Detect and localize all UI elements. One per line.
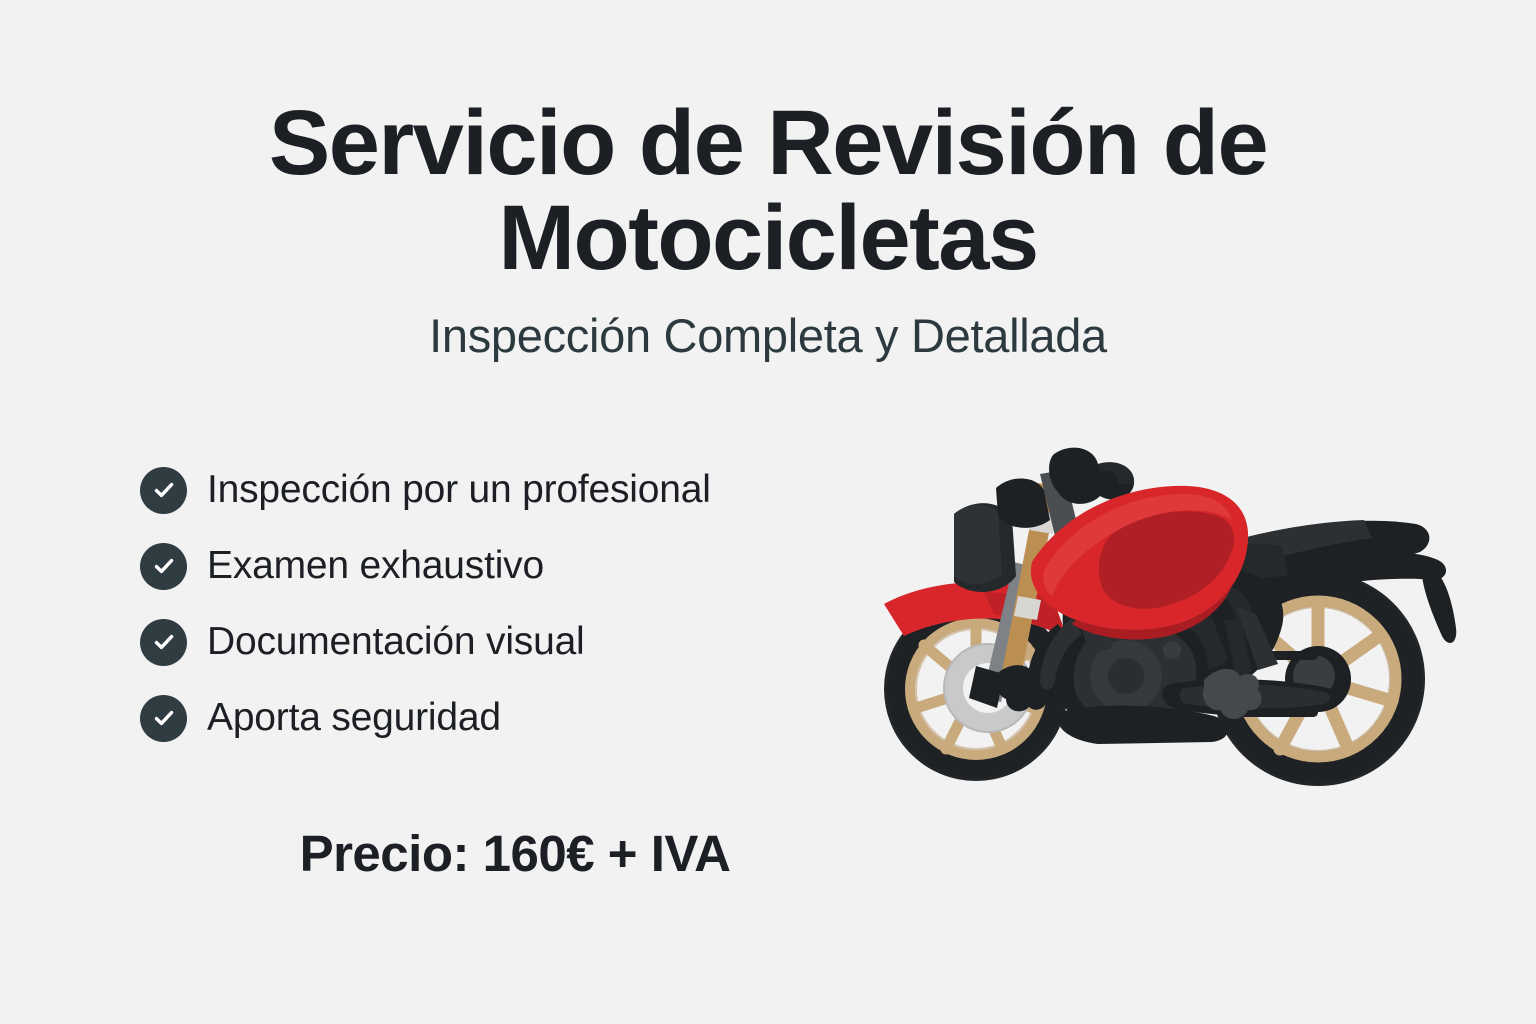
list-item: Aporta seguridad: [140, 680, 880, 756]
list-item-label: Examen exhaustivo: [207, 544, 544, 588]
list-item-label: Inspección por un profesional: [207, 468, 711, 512]
list-item: Inspección por un profesional: [140, 452, 880, 528]
list-item: Documentación visual: [140, 604, 880, 680]
list-item-label: Aporta seguridad: [207, 696, 501, 740]
check-circle-icon: [140, 467, 187, 514]
check-circle-icon: [140, 619, 187, 666]
poster-header: Servicio de Revisión deMotocicletas Insp…: [0, 96, 1536, 363]
feature-list: Inspección por un profesional Examen exh…: [140, 452, 880, 756]
page-title-line-2: Motocicletas: [498, 187, 1037, 289]
motorcycle-illustration: [836, 436, 1486, 804]
check-circle-icon: [140, 695, 187, 742]
page-title-line-1: Servicio de Revisión de: [269, 92, 1267, 194]
list-item-label: Documentación visual: [207, 620, 585, 664]
price-text: Precio: 160€ + IVA: [0, 824, 1030, 883]
page-title: Servicio de Revisión deMotocicletas: [178, 96, 1358, 286]
check-circle-icon: [140, 543, 187, 590]
list-item: Examen exhaustivo: [140, 528, 880, 604]
page-subtitle: Inspección Completa y Detallada: [0, 308, 1536, 363]
poster-root: Servicio de Revisión deMotocicletas Insp…: [0, 0, 1536, 1024]
